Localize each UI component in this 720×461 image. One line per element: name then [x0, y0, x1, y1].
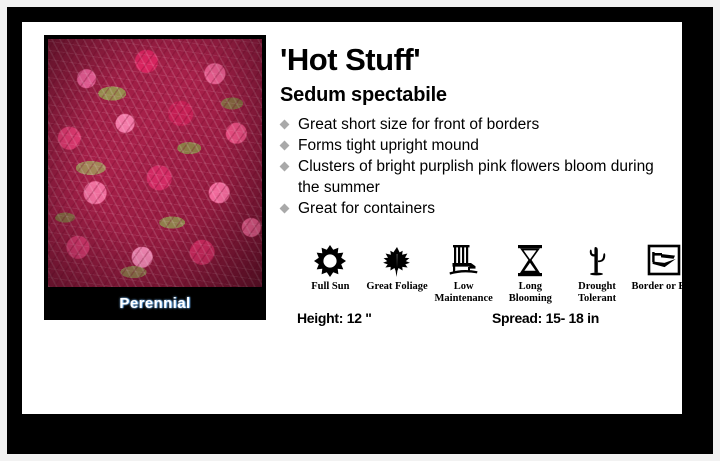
- spread-value: Spread: 15- 18 in: [492, 310, 599, 326]
- feature-text: Clusters of bright purplish pink flowers…: [298, 158, 654, 195]
- photo-vignette: [48, 39, 262, 287]
- plant-info-column: 'Hot Stuff' Sedum spectabile Great short…: [280, 32, 670, 221]
- attribute-border-or-bed: Border or Bed: [630, 234, 697, 305]
- attribute-label: Low Maintenance: [430, 281, 497, 305]
- low-maintenance-icon: [430, 234, 497, 278]
- attribute-label: Long Blooming: [497, 281, 564, 305]
- list-item: Great short size for front of borders: [280, 115, 670, 135]
- list-item: Clusters of bright purplish pink flowers…: [280, 157, 670, 198]
- attribute-label: Full Sun: [297, 281, 364, 293]
- diamond-bullet-icon: [280, 162, 290, 172]
- long-blooming-icon: [497, 234, 564, 278]
- height-value: Height: 12 ": [297, 310, 372, 326]
- attribute-drought-tolerant: Drought Tolerant: [564, 234, 631, 305]
- list-item: Great for containers: [280, 199, 670, 219]
- diamond-bullet-icon: [280, 141, 290, 151]
- list-item: Forms tight upright mound: [280, 136, 670, 156]
- species-name: Sedum spectabile: [280, 84, 670, 107]
- border-or-bed-icon: [630, 234, 697, 278]
- attribute-low-maintenance: Low Maintenance: [430, 234, 497, 305]
- attribute-label: Border or Bed: [630, 281, 697, 293]
- photo-caption-label: Perennial: [119, 295, 190, 312]
- cultivar-name: 'Hot Stuff': [280, 44, 670, 77]
- photo-block: Perennial: [44, 35, 266, 320]
- diamond-bullet-icon: [280, 119, 290, 129]
- feature-text: Great for containers: [298, 200, 435, 217]
- diamond-bullet-icon: [280, 204, 290, 214]
- attribute-label: Drought Tolerant: [564, 281, 631, 305]
- photo-caption-bar: Perennial: [44, 287, 266, 320]
- great-foliage-icon: [364, 234, 431, 278]
- full-sun-icon: [297, 234, 364, 278]
- plant-feature-list: Great short size for front of borders Fo…: [280, 115, 670, 220]
- attribute-label: Great Foliage: [364, 281, 431, 293]
- tag-black-frame: Perennial 'Hot Stuff' Sedum spectabile G…: [7, 7, 713, 454]
- attribute-great-foliage: Great Foliage: [364, 234, 431, 305]
- drought-tolerant-icon: [564, 234, 631, 278]
- attribute-icon-row: Full Sun Great Foliage: [297, 234, 697, 305]
- sedum-flower-photo: [48, 39, 262, 287]
- plant-tag-card: Perennial 'Hot Stuff' Sedum spectabile G…: [22, 22, 682, 414]
- attribute-full-sun: Full Sun: [297, 234, 364, 305]
- feature-text: Great short size for front of borders: [298, 116, 539, 133]
- feature-text: Forms tight upright mound: [298, 137, 479, 154]
- attribute-long-blooming: Long Blooming: [497, 234, 564, 305]
